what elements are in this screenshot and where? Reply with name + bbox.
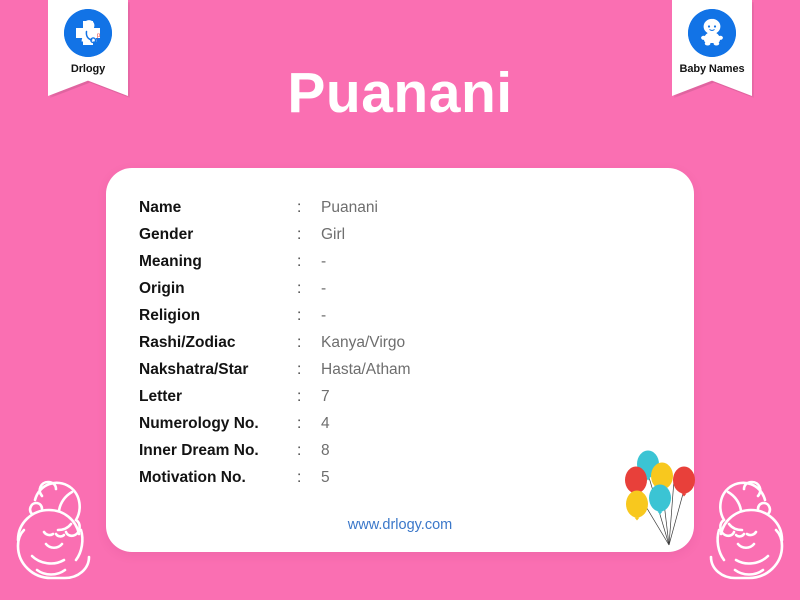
row-value: Puanani	[321, 194, 411, 221]
row-value: -	[321, 248, 411, 275]
row-label: Numerology No.	[139, 410, 297, 437]
row-separator: :	[297, 464, 321, 491]
table-row: Rashi/Zodiac : Kanya/Virgo	[139, 329, 411, 356]
row-value: -	[321, 275, 411, 302]
row-value: Kanya/Virgo	[321, 329, 411, 356]
row-value: 5	[321, 464, 411, 491]
row-separator: :	[297, 275, 321, 302]
row-label: Motivation No.	[139, 464, 297, 491]
name-detail-card: Name : Puanani Gender : Girl Meaning : -…	[106, 168, 694, 552]
row-label: Origin	[139, 275, 297, 302]
table-row: Motivation No. : 5	[139, 464, 411, 491]
row-label: Nakshatra/Star	[139, 356, 297, 383]
row-separator: :	[297, 194, 321, 221]
row-value: 4	[321, 410, 411, 437]
mother-and-baby-icon	[690, 470, 798, 600]
row-separator: :	[297, 329, 321, 356]
baby-icon	[688, 9, 736, 57]
table-row: Gender : Girl	[139, 221, 411, 248]
drlogy-medical-cross-doctor-icon: p	[64, 9, 112, 57]
row-separator: :	[297, 383, 321, 410]
table-row: Religion : -	[139, 302, 411, 329]
table-row: Meaning : -	[139, 248, 411, 275]
table-row: Letter : 7	[139, 383, 411, 410]
row-label: Letter	[139, 383, 297, 410]
mother-and-baby-icon	[2, 470, 110, 600]
row-value: 7	[321, 383, 411, 410]
row-label: Name	[139, 194, 297, 221]
row-label: Inner Dream No.	[139, 437, 297, 464]
table-body: Name : Puanani Gender : Girl Meaning : -…	[139, 194, 411, 491]
row-label: Gender	[139, 221, 297, 248]
table-row: Numerology No. : 4	[139, 410, 411, 437]
row-label: Religion	[139, 302, 297, 329]
row-separator: :	[297, 410, 321, 437]
row-separator: :	[297, 356, 321, 383]
row-value: -	[321, 302, 411, 329]
website-link[interactable]: www.drlogy.com	[106, 517, 694, 533]
row-label: Rashi/Zodiac	[139, 329, 297, 356]
table-row: Nakshatra/Star : Hasta/Atham	[139, 356, 411, 383]
row-value: 8	[321, 437, 411, 464]
table-row: Name : Puanani	[139, 194, 411, 221]
row-separator: :	[297, 302, 321, 329]
row-value: Hasta/Atham	[321, 356, 411, 383]
row-separator: :	[297, 221, 321, 248]
row-label: Meaning	[139, 248, 297, 275]
table-row: Origin : -	[139, 275, 411, 302]
row-separator: :	[297, 437, 321, 464]
name-detail-card-page: p Drlogy Baby Names Puanani Name	[0, 0, 800, 600]
row-value: Girl	[321, 221, 411, 248]
table-row: Inner Dream No. : 8	[139, 437, 411, 464]
row-separator: :	[297, 248, 321, 275]
name-attributes-table: Name : Puanani Gender : Girl Meaning : -…	[139, 194, 411, 491]
page-title: Puanani	[0, 64, 800, 124]
